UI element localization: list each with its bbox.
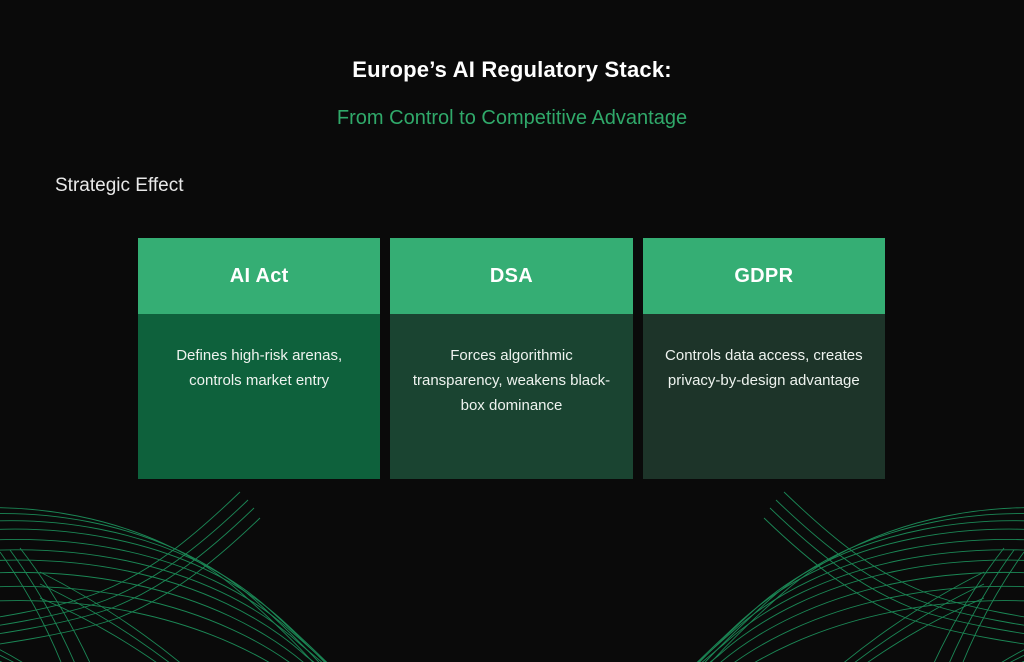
card-description-gdpr: Controls data access, creates privacy-by… (657, 344, 871, 479)
card-description-dsa: Forces algorithmic transparency, weakens… (404, 344, 618, 479)
regulation-card-gdpr: GDPR Controls data access, creates priva… (643, 238, 885, 479)
card-title-gdpr: GDPR (734, 265, 793, 288)
regulation-card-ai-act: AI Act Defines high-risk arenas, control… (138, 238, 380, 479)
card-title-dsa: DSA (490, 265, 533, 288)
card-body-dsa: Forces algorithmic transparency, weakens… (390, 314, 632, 479)
card-header-dsa: DSA (390, 238, 632, 314)
card-header-ai-act: AI Act (138, 238, 380, 314)
section-label: Strategic Effect (55, 175, 184, 197)
card-body-ai-act: Defines high-risk arenas, controls marke… (138, 314, 380, 479)
page-title: Europe’s AI Regulatory Stack: (0, 56, 1024, 85)
card-body-gdpr: Controls data access, creates privacy-by… (643, 314, 885, 479)
card-title-ai-act: AI Act (230, 265, 289, 288)
title-block: Europe’s AI Regulatory Stack: From Contr… (0, 56, 1024, 131)
slide-canvas: Europe’s AI Regulatory Stack: From Contr… (0, 0, 1024, 662)
card-description-ai-act: Defines high-risk arenas, controls marke… (152, 344, 366, 479)
regulation-card-grid: AI Act Defines high-risk arenas, control… (138, 238, 885, 479)
regulation-card-dsa: DSA Forces algorithmic transparency, wea… (390, 238, 632, 479)
page-subtitle: From Control to Competitive Advantage (0, 85, 1024, 131)
card-header-gdpr: GDPR (643, 238, 885, 314)
